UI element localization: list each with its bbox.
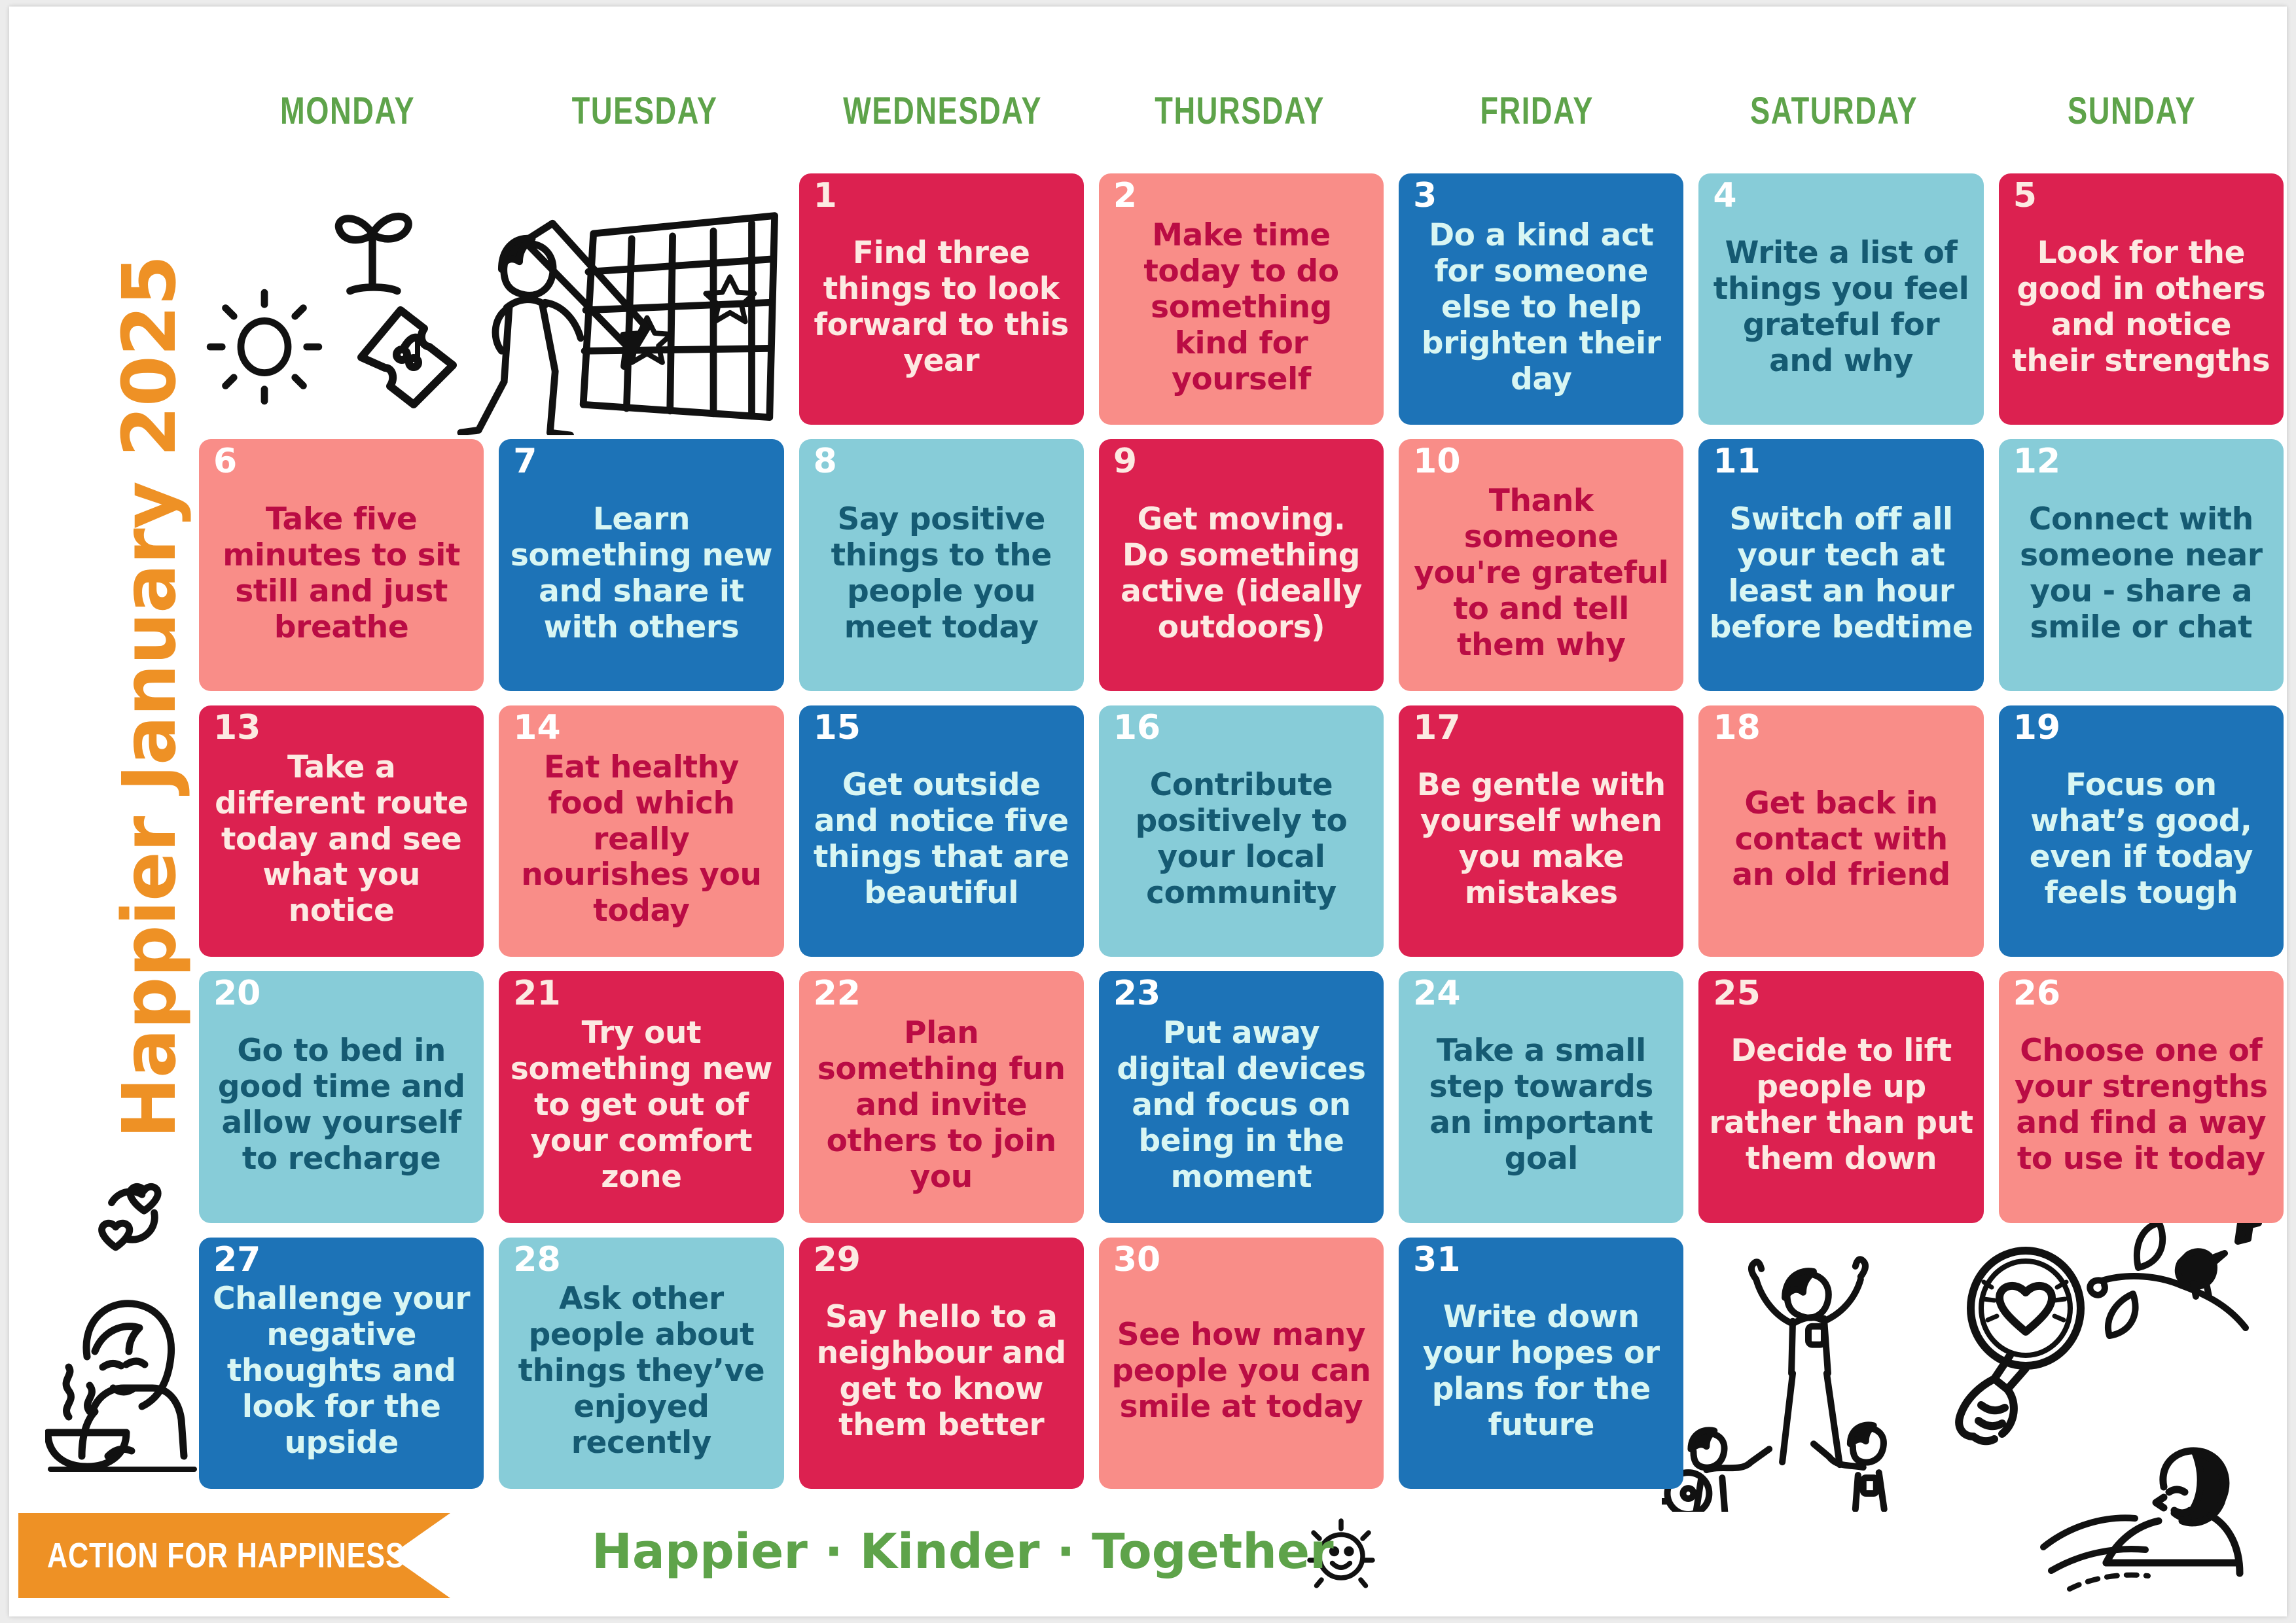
day-action-text: Write a list of things you feel grateful…	[1709, 235, 1973, 379]
weekday-header-wednesday: WEDNESDAY	[827, 82, 1058, 141]
day-number: 18	[1713, 711, 1760, 745]
day-number: 9	[1113, 444, 1137, 478]
day-number: 5	[2013, 179, 2037, 213]
day-action-text: Take a small step towards an important g…	[1409, 1033, 1673, 1177]
day-number: 15	[814, 711, 861, 745]
day-action-text: Connect with someone near you - share a …	[2009, 501, 2273, 645]
calendar-cell-day-7[interactable]: 7 Learn something new and share it with …	[499, 439, 783, 690]
day-number: 4	[1713, 179, 1736, 213]
day-number: 26	[2013, 976, 2060, 1010]
day-number: 11	[1713, 444, 1760, 478]
day-number: 25	[1713, 976, 1760, 1010]
day-number: 21	[513, 976, 560, 1010]
day-action-text: Focus on what’s good, even if today feel…	[2009, 767, 2273, 911]
calendar-cell-day-9[interactable]: 9 Get moving. Do something active (ideal…	[1099, 439, 1384, 690]
day-number: 27	[213, 1243, 260, 1277]
day-action-text: Thank someone you're grateful to and tel…	[1409, 483, 1673, 663]
day-number: 8	[814, 444, 837, 478]
day-number: 13	[213, 711, 260, 745]
day-action-text: Plan something fun and invite others to …	[810, 1015, 1073, 1195]
day-action-text: Decide to lift people up rather than put…	[1709, 1033, 1973, 1177]
day-action-text: Write down your hopes or plans for the f…	[1409, 1299, 1673, 1443]
day-number: 17	[1413, 711, 1460, 745]
page-title: Happier January 2025	[107, 256, 192, 1139]
day-number: 19	[2013, 711, 2060, 745]
action-for-happiness-ribbon: ACTION FOR HAPPINESS	[18, 1513, 450, 1598]
calendar-cell-day-2[interactable]: 2 Make time today to do something kind f…	[1099, 173, 1384, 425]
day-action-text: Put away digital devices and focus on be…	[1109, 1015, 1373, 1195]
calendar-cell-day-31[interactable]: 31 Write down your hopes or plans for th…	[1399, 1238, 1683, 1489]
day-action-text: Go to bed in good time and allow yoursel…	[209, 1033, 473, 1177]
footer: ACTION FOR HAPPINESS Happier · Kinder · …	[9, 1499, 2287, 1616]
weekday-header-friday: FRIDAY	[1421, 82, 1653, 141]
calendar-cell-day-1[interactable]: 1 Find three things to look forward to t…	[799, 173, 1084, 425]
day-action-text: Eat healthy food which really nourishes …	[509, 749, 773, 929]
person-with-warm-bowl-doodle	[45, 1286, 215, 1476]
calendar-cell-day-29[interactable]: 29 Say hello to a neighbour and get to k…	[799, 1238, 1084, 1489]
day-number: 30	[1113, 1243, 1160, 1277]
weekday-header-sunday: SUNDAY	[2016, 82, 2248, 141]
calendar-cell-day-14[interactable]: 14 Eat healthy food which really nourish…	[499, 705, 783, 957]
day-action-text: Make time today to do something kind for…	[1109, 217, 1373, 397]
calendar-cell-day-25[interactable]: 25 Decide to lift people up rather than …	[1698, 971, 1983, 1222]
day-action-text: Choose one of your strengths and find a …	[2009, 1033, 2273, 1177]
calendar-poster: Happier January 2025 MONDAY TUESDAY WEDN…	[9, 7, 2287, 1616]
calendar-cell-day-8[interactable]: 8 Say positive things to the people you …	[799, 439, 1084, 690]
day-number: 10	[1413, 444, 1460, 478]
day-action-text: Say hello to a neighbour and get to know…	[810, 1299, 1073, 1443]
weekday-header-row: MONDAY TUESDAY WEDNESDAY THURSDAY FRIDAY…	[199, 82, 2280, 141]
day-number: 24	[1413, 976, 1460, 1010]
day-number: 23	[1113, 976, 1160, 1010]
day-action-text: Switch off all your tech at least an hou…	[1709, 501, 1973, 645]
day-action-text: Get moving. Do something active (ideally…	[1109, 501, 1373, 645]
day-number: 1	[814, 179, 837, 213]
day-action-text: Challenge your negative thoughts and loo…	[209, 1281, 473, 1461]
calendar-grid: 1 Find three things to look forward to t…	[199, 173, 2284, 1489]
day-action-text: See how many people you can smile at tod…	[1109, 1317, 1373, 1425]
calendar-cell-day-28[interactable]: 28 Ask other people about things they’ve…	[499, 1238, 783, 1489]
calendar-cell-day-10[interactable]: 10 Thank someone you're grateful to and …	[1399, 439, 1683, 690]
day-action-text: Look for the good in others and notice t…	[2009, 235, 2273, 379]
day-number: 29	[814, 1243, 861, 1277]
calendar-cell-day-12[interactable]: 12 Connect with someone near you - share…	[1999, 439, 2284, 690]
calendar-cell-day-19[interactable]: 19 Focus on what’s good, even if today f…	[1999, 705, 2284, 957]
page-title-container: Happier January 2025	[9, 105, 147, 1152]
day-number: 2	[1113, 179, 1137, 213]
calendar-cell-day-24[interactable]: 24 Take a small step towards an importan…	[1399, 971, 1683, 1222]
day-action-text: Be gentle with yourself when you make mi…	[1409, 767, 1673, 911]
day-action-text: Ask other people about things they’ve en…	[509, 1281, 773, 1461]
calendar-cell-day-13[interactable]: 13 Take a different route today and see …	[199, 705, 484, 957]
calendar-cell-empty	[499, 173, 783, 425]
calendar-cell-day-16[interactable]: 16 Contribute positively to your local c…	[1099, 705, 1384, 957]
calendar-cell-empty	[1698, 1238, 1983, 1489]
calendar-cell-day-20[interactable]: 20 Go to bed in good time and allow your…	[199, 971, 484, 1222]
day-action-text: Contribute positively to your local comm…	[1109, 767, 1373, 911]
day-number: 12	[2013, 444, 2060, 478]
day-action-text: Try out something new to get out of your…	[509, 1015, 773, 1195]
day-number: 3	[1413, 179, 1437, 213]
calendar-cell-day-27[interactable]: 27 Challenge your negative thoughts and …	[199, 1238, 484, 1489]
calendar-cell-day-4[interactable]: 4 Write a list of things you feel gratef…	[1698, 173, 1983, 425]
calendar-cell-day-3[interactable]: 3 Do a kind act for someone else to help…	[1399, 173, 1683, 425]
day-action-text: Get back in contact with an old friend	[1709, 785, 1973, 893]
calendar-cell-day-15[interactable]: 15 Get outside and notice five things th…	[799, 705, 1084, 957]
day-number: 16	[1113, 711, 1160, 745]
ribbon-label: ACTION FOR HAPPINESS	[47, 1535, 404, 1576]
day-number: 7	[513, 444, 537, 478]
weekday-header-tuesday: TUESDAY	[529, 82, 761, 141]
day-action-text: Learn something new and share it with ot…	[509, 501, 773, 645]
day-number: 14	[513, 711, 560, 745]
calendar-cell-empty	[1999, 1238, 2284, 1489]
calendar-cell-day-26[interactable]: 26 Choose one of your strengths and find…	[1999, 971, 2284, 1222]
day-action-text: Take a different route today and see wha…	[209, 749, 473, 929]
calendar-cell-day-11[interactable]: 11 Switch off all your tech at least an …	[1698, 439, 1983, 690]
calendar-cell-day-30[interactable]: 30 See how many people you can smile at …	[1099, 1238, 1384, 1489]
day-number: 31	[1413, 1243, 1460, 1277]
day-action-text: Say positive things to the people you me…	[810, 501, 1073, 645]
calendar-cell-day-18[interactable]: 18 Get back in contact with an old frien…	[1698, 705, 1983, 957]
footer-tagline: Happier · Kinder · Together	[592, 1524, 1334, 1580]
day-action-text: Do a kind act for someone else to help b…	[1409, 217, 1673, 397]
day-action-text: Find three things to look forward to thi…	[810, 235, 1073, 379]
calendar-cell-day-22[interactable]: 22 Plan something fun and invite others …	[799, 971, 1084, 1222]
day-number: 20	[213, 976, 260, 1010]
day-number: 28	[513, 1243, 560, 1277]
calendar-cell-day-17[interactable]: 17 Be gentle with yourself when you make…	[1399, 705, 1683, 957]
day-number: 6	[213, 444, 237, 478]
weekday-header-thursday: THURSDAY	[1124, 82, 1355, 141]
calendar-cell-day-23[interactable]: 23 Put away digital devices and focus on…	[1099, 971, 1384, 1222]
day-action-text: Get outside and notice five things that …	[810, 767, 1073, 911]
hearts-recycle-doodle	[81, 1168, 183, 1270]
weekday-header-monday: MONDAY	[232, 82, 463, 141]
calendar-cell-empty	[199, 173, 484, 425]
day-number: 22	[814, 976, 861, 1010]
calendar-cell-day-21[interactable]: 21 Try out something new to get out of y…	[499, 971, 783, 1222]
day-action-text: Take five minutes to sit still and just …	[209, 501, 473, 645]
calendar-cell-day-6[interactable]: 6 Take five minutes to sit still and jus…	[199, 439, 484, 690]
calendar-cell-day-5[interactable]: 5 Look for the good in others and notice…	[1999, 173, 2284, 425]
weekday-header-saturday: SATURDAY	[1718, 82, 1950, 141]
